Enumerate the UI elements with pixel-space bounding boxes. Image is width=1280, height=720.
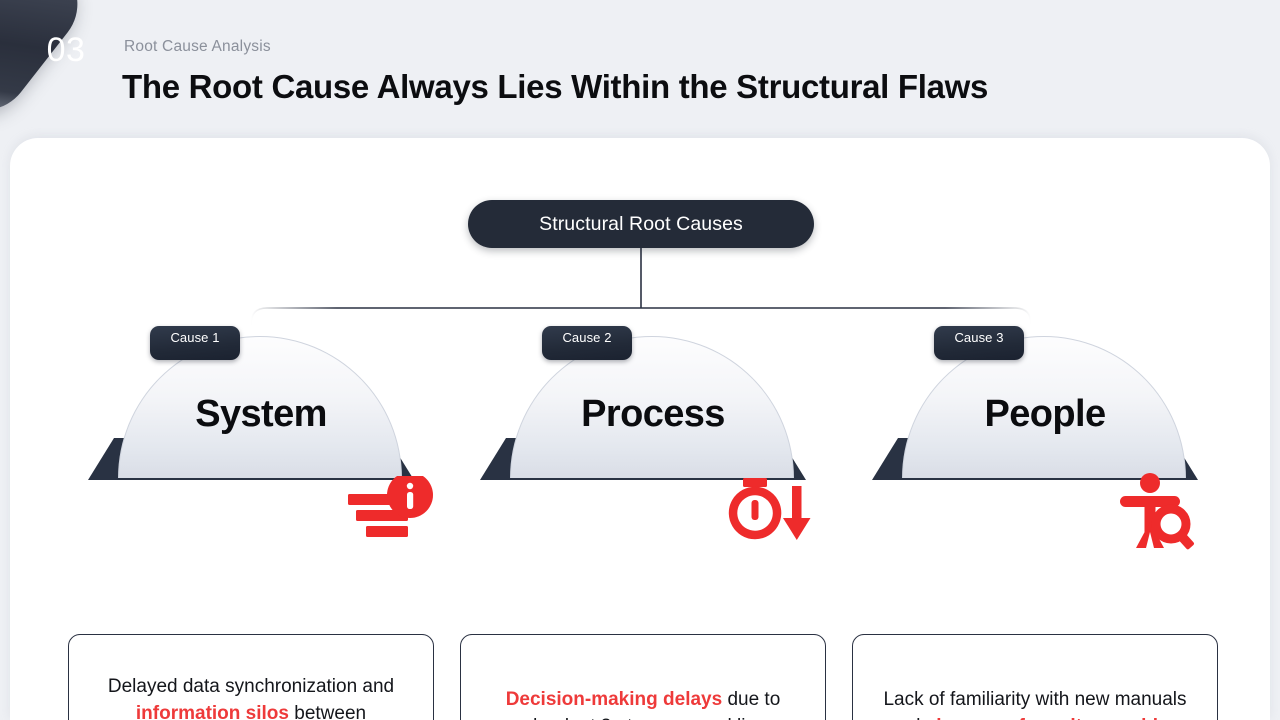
cause-tab-label: Cause 3 bbox=[934, 330, 1024, 345]
step-number-label: 03 bbox=[30, 26, 102, 74]
cause-tab-label: Cause 1 bbox=[150, 330, 240, 345]
cause-tab[interactable]: Cause 3 bbox=[934, 326, 1024, 360]
cause-info-text: Decision-making delays due to redundant … bbox=[483, 686, 803, 720]
dome-title: Process bbox=[511, 393, 794, 436]
section-eyebrow: Root Cause Analysis bbox=[124, 38, 271, 56]
content-panel: Structural Root Causes System Cause 1 bbox=[10, 138, 1270, 720]
branch-column-3: People Cause 3 Lack of familiarity with … bbox=[834, 318, 1234, 718]
info-document-icon bbox=[346, 476, 436, 551]
dome-title: System bbox=[119, 393, 402, 436]
person-magnifier-icon bbox=[1106, 472, 1206, 555]
cause-tab-label: Cause 2 bbox=[542, 330, 632, 345]
slide-header: 03 Root Cause Analysis The Root Cause Al… bbox=[0, 0, 1280, 140]
root-node-label: Structural Root Causes bbox=[468, 200, 814, 248]
cause-tab[interactable]: Cause 2 bbox=[542, 326, 632, 360]
root-cause-diagram: Structural Root Causes System Cause 1 bbox=[10, 138, 1270, 720]
cause-tab[interactable]: Cause 1 bbox=[150, 326, 240, 360]
dome-title: People bbox=[903, 393, 1186, 436]
cause-info-text: Lack of familiarity with new manuals and… bbox=[875, 686, 1195, 720]
root-node[interactable]: Structural Root Causes bbox=[468, 200, 814, 248]
cause-info-card[interactable]: Decision-making delays due to redundant … bbox=[460, 634, 826, 720]
branch-column-1: System Cause 1 Delayed data synchronizat… bbox=[50, 318, 450, 718]
cause-info-text: Delayed data synchronization and informa… bbox=[91, 673, 411, 720]
stopwatch-delay-icon bbox=[722, 476, 822, 553]
cause-info-card[interactable]: Lack of familiarity with new manuals and… bbox=[852, 634, 1218, 720]
branch-column-2: Process Cause 2 Decision-making delays d… bbox=[442, 318, 842, 718]
page-title: The Root Cause Always Lies Within the St… bbox=[122, 68, 988, 106]
cause-info-card[interactable]: Delayed data synchronization and informa… bbox=[68, 634, 434, 720]
